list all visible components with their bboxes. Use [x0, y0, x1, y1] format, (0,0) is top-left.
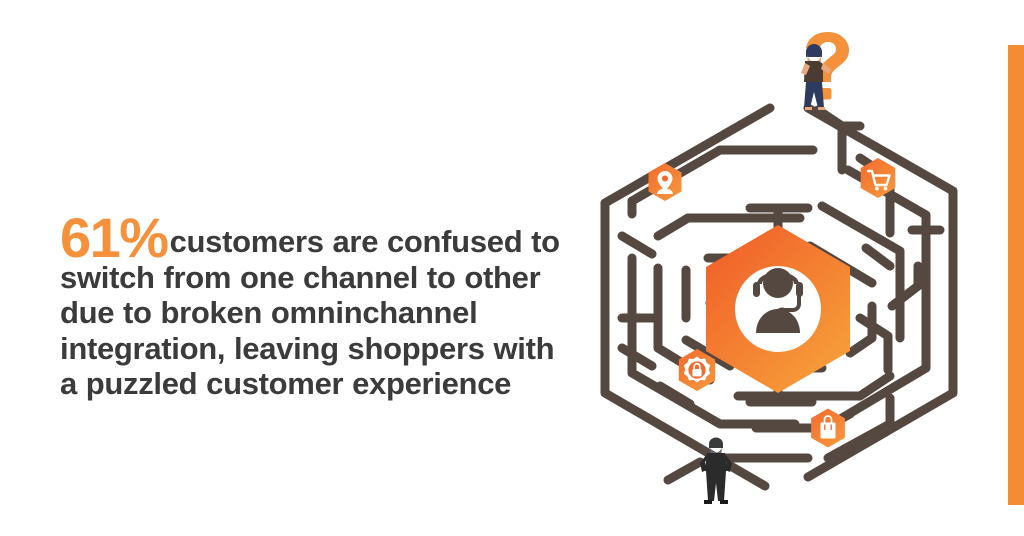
maze-wall-left-spur-c — [622, 348, 652, 366]
figure-person-with-question-mark — [801, 32, 849, 110]
page-title: 61%customers are confused to switch from… — [60, 218, 560, 402]
badge-location-pin[interactable] — [649, 163, 682, 201]
maze-wall-exit-bottom — [668, 462, 700, 480]
standing-person-shoes — [704, 500, 728, 504]
infographic-canvas: 61%customers are confused to switch from… — [0, 0, 1024, 536]
person-legs — [804, 82, 824, 108]
maze-illustration — [560, 18, 1000, 518]
maze-wall-right-spur-d — [866, 248, 890, 266]
standing-person-hair — [709, 438, 723, 449]
maze-wall-ring3-top-left — [658, 218, 688, 236]
text-panel: 61%customers are confused to switch from… — [60, 218, 560, 402]
maze-wall-ring4-right — [850, 306, 872, 353]
maze-wall-left-spur-a — [622, 236, 652, 254]
location-pin-icon — [657, 171, 673, 194]
accent-bar — [1008, 45, 1024, 505]
standing-person-torso — [705, 453, 727, 471]
standing-person-legs — [706, 471, 726, 501]
